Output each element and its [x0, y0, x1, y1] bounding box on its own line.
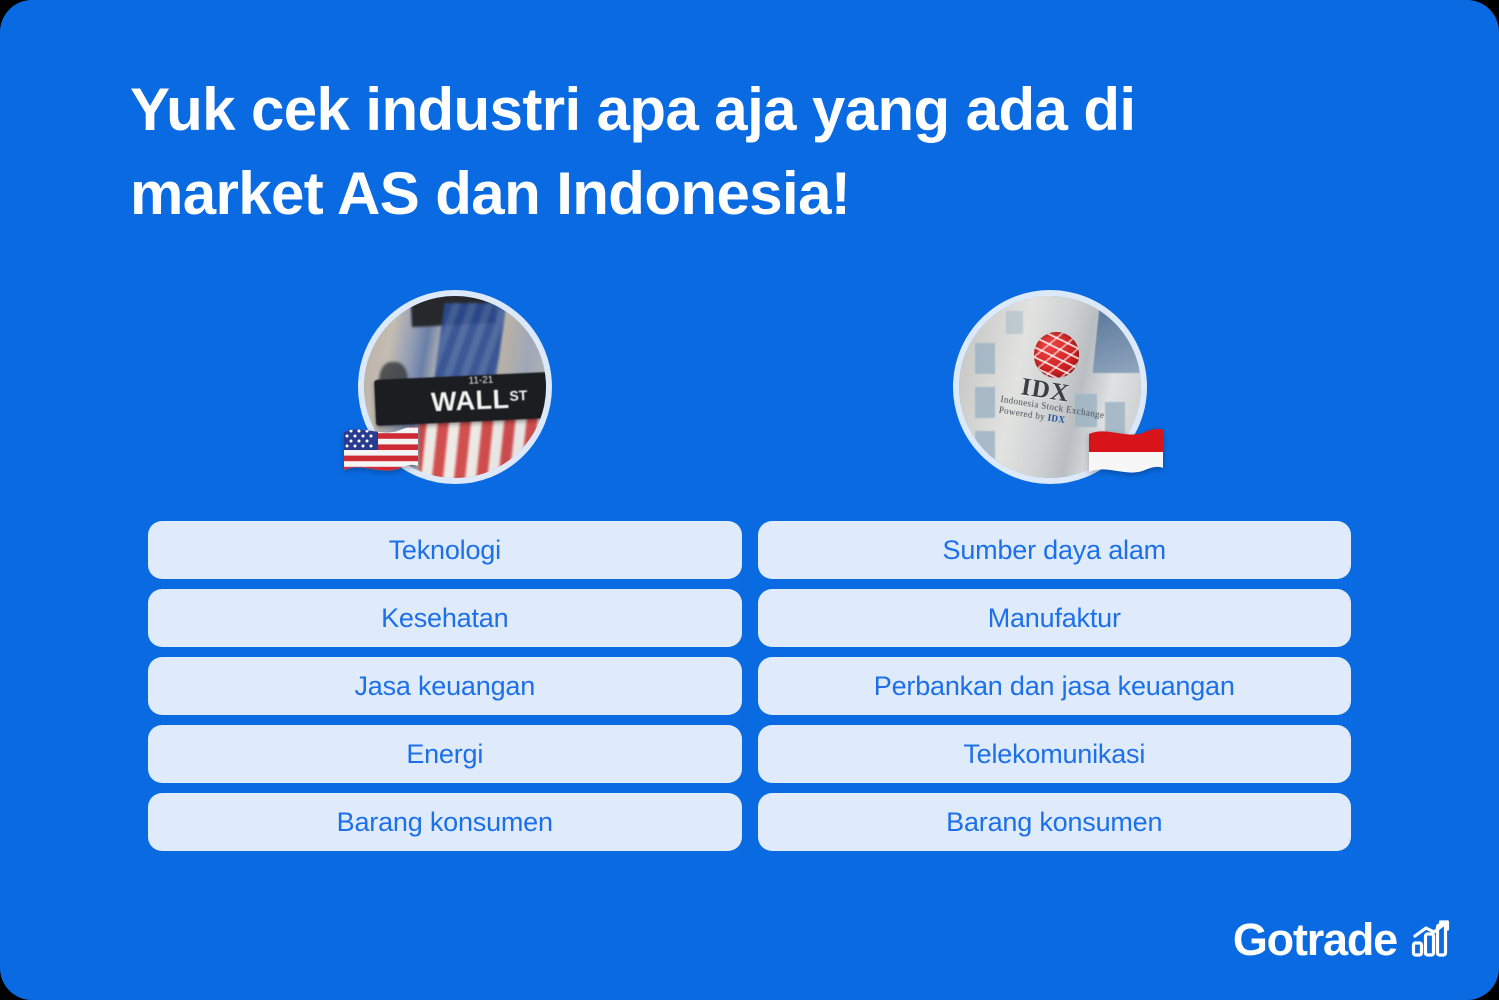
sign-suffix-label: ST: [509, 388, 528, 403]
sky-reflection: [1093, 290, 1147, 372]
sign-main-label: WALL: [430, 386, 510, 417]
industry-pill[interactable]: Telekomunikasi: [758, 725, 1352, 783]
poster-card: Yuk cek industri apa aja yang ada di mar…: [0, 0, 1499, 1000]
building-window: [975, 387, 995, 418]
idx-globe-logo-icon: [1034, 332, 1080, 378]
gotrade-logo: Gotrade: [1233, 917, 1453, 962]
building-window: [975, 431, 995, 460]
industry-pill[interactable]: Jasa keuangan: [148, 657, 742, 715]
building-window: [975, 343, 995, 374]
indonesia-flag-icon: [1087, 424, 1165, 480]
building-window: [1006, 311, 1022, 335]
industry-column-indonesia: Sumber daya alam Manufaktur Perbankan da…: [758, 521, 1352, 851]
gotrade-wordmark: Gotrade: [1233, 917, 1397, 962]
market-image-us: 11-21 WALL ST: [358, 290, 552, 484]
industry-pill[interactable]: Energi: [148, 725, 742, 783]
market-image-indonesia: IDX Indonesia Stock Exchange Powered by …: [953, 290, 1147, 484]
industry-columns: Teknologi Kesehatan Jasa keuangan Energi…: [148, 521, 1351, 851]
industry-pill[interactable]: Kesehatan: [148, 589, 742, 647]
industry-pill[interactable]: Barang konsumen: [758, 793, 1352, 851]
us-flag-icon: [342, 422, 420, 478]
industry-pill[interactable]: Teknologi: [148, 521, 742, 579]
industry-column-us: Teknologi Kesehatan Jasa keuangan Energi…: [148, 521, 742, 851]
industry-pill[interactable]: Manufaktur: [758, 589, 1352, 647]
industry-pill[interactable]: Perbankan dan jasa keuangan: [758, 657, 1352, 715]
idx-subtitle-brand: IDX: [1047, 412, 1066, 425]
industry-pill[interactable]: Barang konsumen: [148, 793, 742, 851]
industry-pill[interactable]: Sumber daya alam: [758, 521, 1352, 579]
flag-canton-backdrop: [433, 303, 506, 383]
page-title: Yuk cek industri apa aja yang ada di mar…: [130, 68, 1290, 236]
wall-street-sign: 11-21 WALL ST: [374, 372, 551, 425]
gotrade-bars-arrow-icon: [1409, 918, 1453, 962]
